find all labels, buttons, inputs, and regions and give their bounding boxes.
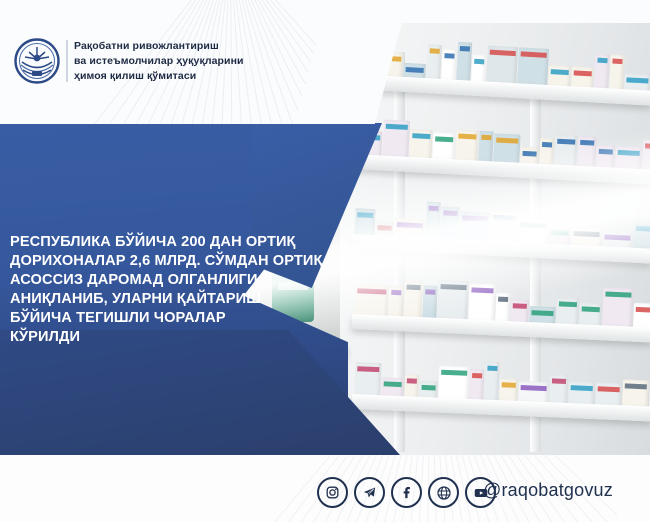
website-globe-icon[interactable]: [428, 477, 459, 508]
headline-line: БЎЙИЧА ТЕГИШЛИ ЧОРАЛАР: [10, 309, 360, 328]
headline-line: ДОРИХОНАЛАР 2,6 МЛРД. СЎМДАН ОРТИҚ: [10, 252, 360, 271]
organization-name: Рақобатни ривожлантириш ва истеъмолчилар…: [74, 39, 304, 84]
headline-line: АСОССИЗ ДАРОМАД ОЛГАНЛИГИ: [10, 271, 360, 290]
organization-line: Рақобатни ривожлантириш: [74, 39, 304, 54]
headline-line: РЕСПУБЛИКА БЎЙИЧА 200 ДАН ОРТИҚ: [10, 233, 360, 252]
header-divider: [66, 40, 68, 82]
telegram-icon[interactable]: [354, 477, 385, 508]
headline-text: РЕСПУБЛИКА БЎЙИЧА 200 ДАН ОРТИҚ ДОРИХОНА…: [10, 233, 360, 347]
headline-line: КЎРИЛДИ: [10, 328, 360, 347]
social-links[interactable]: [317, 477, 496, 508]
instagram-icon[interactable]: [317, 477, 348, 508]
social-handle[interactable]: @raqobatgovuz: [483, 480, 613, 501]
uzbekistan-state-emblem-icon: [14, 38, 60, 84]
headline-line: АНИҚЛАНИБ, УЛАРНИ ҚАЙТАРИШ: [10, 290, 360, 309]
organization-line: ҳимоя қилиш қўмитаси: [74, 69, 304, 84]
organization-line: ва истеъмолчилар ҳуқуқларини: [74, 54, 304, 69]
social-media-post: РЕСПУБЛИКА БЎЙИЧА 200 ДАН ОРТИҚ ДОРИХОНА…: [0, 0, 650, 522]
facebook-icon[interactable]: [391, 477, 422, 508]
